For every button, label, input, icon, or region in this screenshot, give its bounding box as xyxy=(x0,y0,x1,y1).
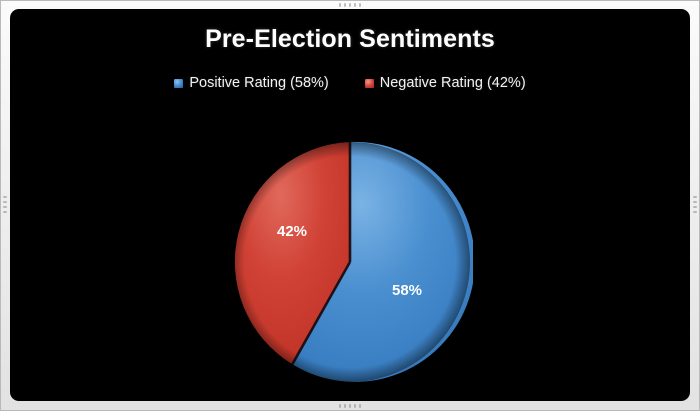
handle-dot xyxy=(693,206,697,208)
pie-chart-svg: 58% 42% xyxy=(227,139,473,385)
handle-dot xyxy=(3,201,7,203)
pie-chart-plot-area: 58% 42% xyxy=(227,139,473,385)
presentation-window-frame: Pre-Election Sentiments Positive Rating … xyxy=(0,0,700,411)
handle-dot xyxy=(693,196,697,198)
pie-rim-shading xyxy=(230,142,470,382)
handle-dot xyxy=(339,3,341,7)
handle-dot xyxy=(3,211,7,213)
handle-dot xyxy=(3,196,7,198)
pie-data-label-negative-rating: 42% xyxy=(277,223,307,240)
handle-dot xyxy=(693,211,697,213)
legend-item-negative-rating[interactable]: Negative Rating (42%) xyxy=(365,75,526,91)
handle-dot xyxy=(349,404,351,408)
handle-dot xyxy=(344,404,346,408)
handle-dot xyxy=(354,404,356,408)
handle-dot xyxy=(359,3,361,7)
legend-swatch-red-icon xyxy=(365,79,374,88)
resize-handle-right[interactable] xyxy=(693,196,697,216)
resize-handle-left[interactable] xyxy=(3,196,7,216)
handle-dot xyxy=(344,3,346,7)
chart-legend: Positive Rating (58%) Negative Rating (4… xyxy=(10,75,690,91)
legend-label-negative-rating: Negative Rating (42%) xyxy=(380,75,526,91)
handle-dot xyxy=(693,201,697,203)
slide-canvas: Pre-Election Sentiments Positive Rating … xyxy=(10,9,690,401)
legend-label-positive-rating: Positive Rating (58%) xyxy=(189,75,328,91)
resize-handle-top[interactable] xyxy=(339,3,361,7)
handle-dot xyxy=(349,3,351,7)
handle-dot xyxy=(3,206,7,208)
chart-title: Pre-Election Sentiments xyxy=(10,25,690,54)
handle-dot xyxy=(354,3,356,7)
pie-data-label-positive-rating: 58% xyxy=(392,282,422,299)
resize-handle-bottom[interactable] xyxy=(339,404,361,408)
legend-item-positive-rating[interactable]: Positive Rating (58%) xyxy=(174,75,328,91)
handle-dot xyxy=(339,404,341,408)
handle-dot xyxy=(359,404,361,408)
legend-swatch-blue-icon xyxy=(174,79,183,88)
